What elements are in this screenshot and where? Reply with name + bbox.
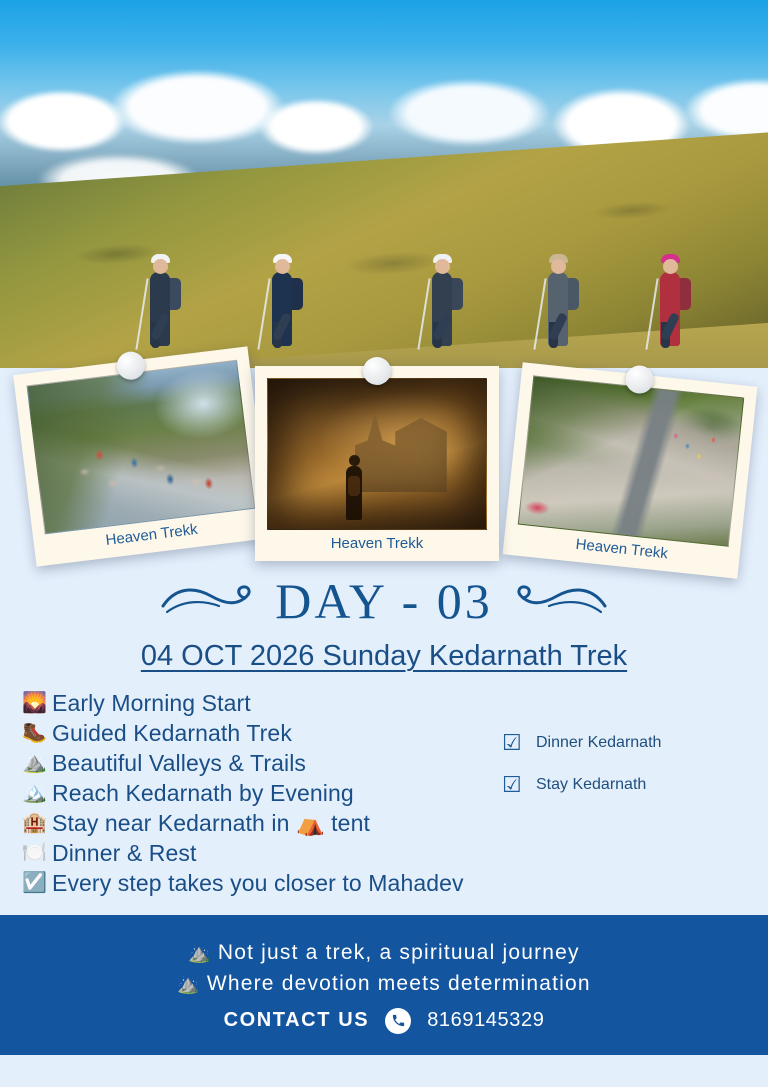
photo-card-kedarnath-temple[interactable]: Heaven Trekk (255, 366, 499, 561)
check-box-icon: ☑️ (22, 873, 52, 893)
photo-river-bridge (518, 375, 745, 546)
contact-row: CONTACT US 8169145329 (0, 1008, 768, 1034)
mountain-icon: ⛰️ (188, 943, 212, 963)
phone-number[interactable]: 8169145329 (427, 1009, 544, 1032)
snow-capped-mountain-icon: 🏔️ (22, 783, 52, 803)
list-item: 🥾 Guided Kedarnath Trek (22, 718, 522, 748)
list-item-label: Guided Kedarnath Trek (52, 720, 292, 747)
check-box-icon: ☑ (502, 732, 536, 754)
list-item-label: Reach Kedarnath by Evening (52, 780, 354, 807)
list-item: 🌄 Early Morning Start (22, 688, 522, 718)
check-box-icon: ☑ (502, 774, 536, 796)
list-item: ☑️ Every step takes you closer to Mahade… (22, 868, 522, 898)
list-item-label: Stay Kedarnath (536, 776, 646, 794)
tagline-text: Not just a trek, a spirituual journey (218, 941, 580, 964)
page-title: DAY - 03 (275, 576, 493, 626)
list-item: ☑ Stay Kedarnath (502, 764, 752, 806)
tagline-1: ⛰️Not just a trek, a spirituual journey (0, 937, 768, 969)
photo-card-river-bridge[interactable]: Heaven Trekk (503, 362, 758, 579)
hero-photo (0, 0, 768, 368)
dateline-row: 04 OCT 2026 Sunday Kedarnath Trek (0, 640, 768, 673)
list-item-label: Every step takes you closer to Mahadev (52, 870, 464, 897)
cutlery-icon: 🍽️ (22, 843, 52, 863)
list-item: 🍽️ Dinner & Rest (22, 838, 522, 868)
pin-icon (363, 357, 391, 385)
list-item-label: Stay near Kedarnath in ⛺ tent (52, 810, 370, 837)
list-item: ☑ Dinner Kedarnath (502, 722, 752, 764)
phone-icon[interactable] (385, 1008, 411, 1034)
tagline-2: ⛰️Where devotion meets determination (0, 968, 768, 1000)
hiking-boot-icon: 🥾 (22, 723, 52, 743)
itinerary-list: 🌄 Early Morning Start 🥾 Guided Kedarnath… (22, 688, 522, 898)
inclusions-checklist: ☑ Dinner Kedarnath ☑ Stay Kedarnath (502, 722, 752, 806)
hotel-icon: 🏨 (22, 813, 52, 833)
list-item: 🏨 Stay near Kedarnath in ⛺ tent (22, 808, 522, 838)
list-item-label: Early Morning Start (52, 690, 251, 717)
list-item-label: Dinner & Rest (52, 840, 196, 867)
day-title-row: DAY - 03 (0, 576, 768, 626)
flourish-left-icon (157, 582, 253, 621)
mountain-icon: ⛰️ (22, 753, 52, 773)
photo-river-valley (26, 360, 255, 535)
photo-kedarnath-temple (267, 378, 487, 530)
sunrise-over-mountains-icon: 🌄 (22, 693, 52, 713)
contact-label: CONTACT US (224, 1009, 370, 1032)
photo-caption: Heaven Trekk (267, 530, 487, 561)
list-item-label: Dinner Kedarnath (536, 734, 661, 752)
mountain-icon: ⛰️ (177, 974, 201, 994)
footer-banner: ⛰️Not just a trek, a spirituual journey … (0, 915, 768, 1055)
list-item: ⛰️ Beautiful Valleys & Trails (22, 748, 522, 778)
list-item: 🏔️ Reach Kedarnath by Evening (22, 778, 522, 808)
tagline-text: Where devotion meets determination (207, 972, 591, 995)
list-item-label: Beautiful Valleys & Trails (52, 750, 306, 777)
photo-card-river-valley[interactable]: Heaven Trekk (13, 346, 271, 566)
poster: Heaven Trekk Heaven Trekk Heaven Trekk D… (0, 0, 768, 1087)
trek-dateline: 04 OCT 2026 Sunday Kedarnath Trek (141, 640, 627, 673)
flourish-right-icon (515, 582, 611, 621)
